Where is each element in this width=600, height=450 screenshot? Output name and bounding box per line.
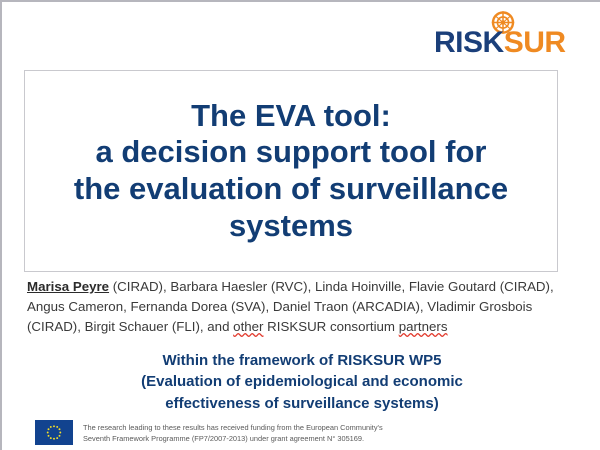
funding-footer: The research leading to these results ha… [35,420,575,445]
misspelled-word-partners: partners [399,319,448,334]
page-title: The EVA tool: a decision support tool fo… [68,98,514,244]
author-list: Marisa Peyre (CIRAD), Barbara Haesler (R… [27,277,579,338]
eu-flag-icon [35,420,73,445]
title-box: The EVA tool: a decision support tool fo… [24,70,558,272]
logo-text-sur: SUR [504,26,566,59]
logo-text-risk: RISK [434,26,504,59]
framework-subtitle: Within the framework of RISKSUR WP5 (Eva… [2,350,600,414]
funding-statement: The research leading to these results ha… [83,420,383,444]
risksur-logo: RISKSUR [434,10,574,62]
misspelled-word-other: other [233,319,263,334]
author-list-part-2: RISKSUR consortium [263,319,398,334]
logo-wordmark: RISKSUR [434,28,566,58]
lead-author-name: Marisa Peyre [27,279,109,294]
slide-canvas: RISKSUR The EVA tool: a decision support… [0,0,600,450]
